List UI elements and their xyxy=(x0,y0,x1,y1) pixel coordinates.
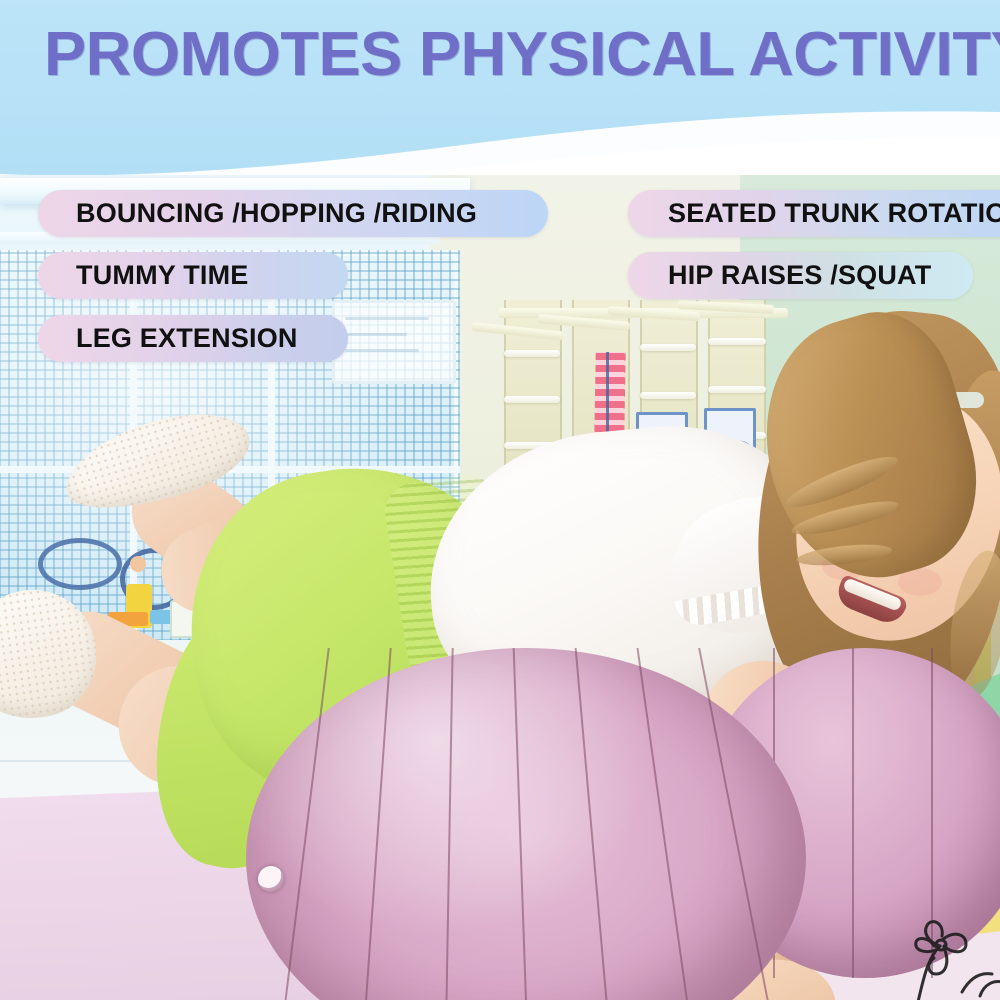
feature-pill-label: LEG EXTENSION xyxy=(76,323,298,354)
header-banner: PROMOTES PHYSICAL ACTIVITY xyxy=(0,0,1000,175)
feature-pill-label: TUMMY TIME xyxy=(76,260,249,291)
wave-divider xyxy=(0,108,1000,175)
feature-pill-seated-trunk-rotation[interactable]: SEATED TRUNK ROTATION xyxy=(628,190,1000,237)
feature-pill-leg-extension[interactable]: LEG EXTENSION xyxy=(38,315,348,362)
feature-pill-tummy-time[interactable]: TUMMY TIME xyxy=(38,252,348,299)
feature-pill-label: SEATED TRUNK ROTATION xyxy=(668,198,1000,229)
exercise-ball-valve xyxy=(258,866,284,892)
feature-pill-hip-raises-squat[interactable]: HIP RAISES /SQUAT xyxy=(628,252,973,299)
feature-pill-label: BOUNCING /HOPPING /RIDING xyxy=(76,198,477,229)
feature-pill-bouncing[interactable]: BOUNCING /HOPPING /RIDING xyxy=(38,190,548,237)
product-infographic: PROMOTES PHYSICAL ACTIVITY BOUNCING /HOP… xyxy=(0,0,1000,1000)
feature-pill-label: HIP RAISES /SQUAT xyxy=(668,260,931,291)
page-title: PROMOTES PHYSICAL ACTIVITY xyxy=(44,24,1000,86)
floral-doodle-icon xyxy=(884,896,1000,1000)
